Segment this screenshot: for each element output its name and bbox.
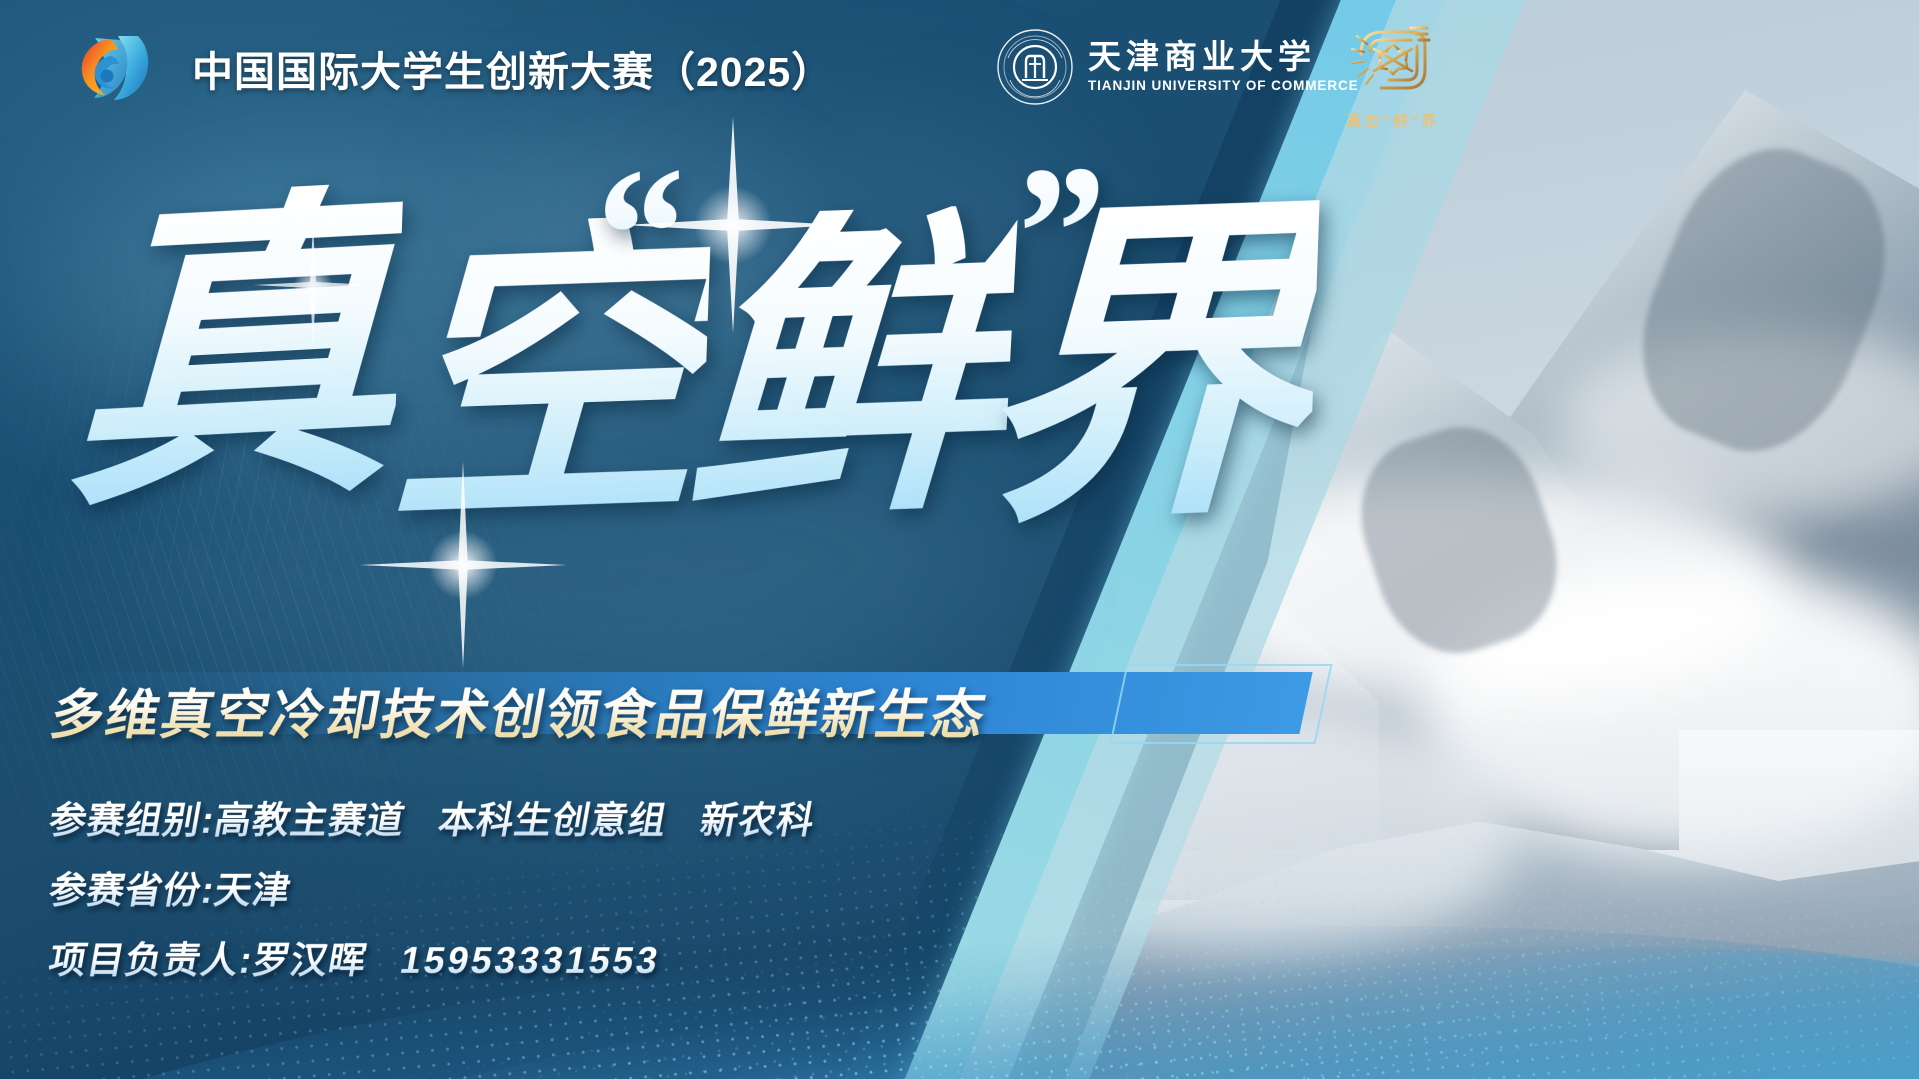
project-logo-label: 真空“鲜”界 <box>1318 110 1468 131</box>
poster-header: 中国国际大学生创新大赛（2025） <box>0 0 1919 140</box>
poster-root: 中国国际大学生创新大赛（2025） <box>0 0 1919 1079</box>
title-char-jie: 界 <box>972 196 1320 544</box>
title-char-xian: 鲜 <box>680 204 1019 538</box>
competition-title: 中国国际大学生创新大赛（2025） <box>192 38 833 98</box>
bottom-wave-decoration <box>0 779 1919 1079</box>
title-char-zhen: 真 <box>62 181 403 529</box>
university-logo-group: 天津商业大学 TIANJIN UNIVERSITY OF COMMERCE <box>996 28 1359 106</box>
china-innovation-competition-swirl-logo <box>76 30 156 108</box>
title-quote-open: “ <box>585 138 687 331</box>
project-logo-group: 真空“鲜”界 <box>1318 18 1468 131</box>
tianjin-university-of-commerce-seal <box>996 28 1074 106</box>
subtitle-text: 多维真空冷却技术创领食品保鲜新生态 <box>45 673 1338 749</box>
main-title: 真 空 “ 鲜 ” 界 <box>58 150 1328 630</box>
snowflake-vacuum-chamber-gold-logo <box>1337 18 1449 106</box>
